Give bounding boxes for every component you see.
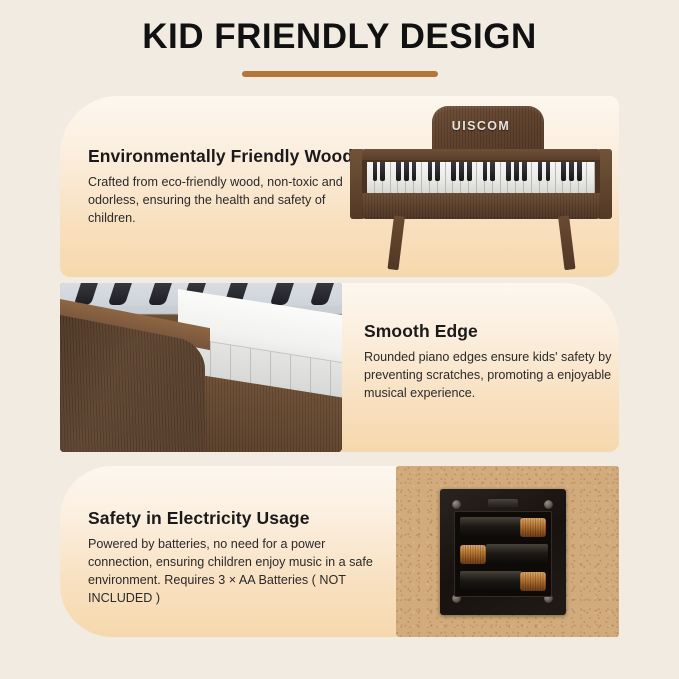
piano-black-key	[428, 162, 433, 181]
piano-rounded-edge-closeup	[60, 283, 342, 452]
battery-body	[460, 517, 522, 538]
closeup-black-key	[108, 283, 133, 305]
piano-black-key	[435, 162, 440, 181]
feature-heading: Smooth Edge	[364, 321, 612, 342]
feature-body: Rounded piano edges ensure kids' safety …	[364, 349, 612, 403]
battery-compartment-photo	[396, 466, 619, 637]
piano-black-key	[404, 162, 409, 181]
toy-piano-illustration: UISCOM	[350, 104, 612, 272]
closeup-black-key	[310, 283, 335, 305]
toy-piano-photo: UISCOM	[342, 96, 619, 277]
piano-leg-left	[387, 215, 404, 270]
feature-card-safety-in-electricity-usage: Safety in Electricity Usage Powered by b…	[60, 466, 396, 637]
piano-black-key	[373, 162, 378, 181]
piano-black-keys	[367, 162, 595, 181]
piano-black-key	[483, 162, 488, 181]
cork-backing-surface	[396, 466, 619, 637]
feature-card-environmentally-friendly-wood: Environmentally Friendly Wood Crafted fr…	[60, 96, 619, 277]
battery-body	[460, 571, 522, 592]
piano-black-key	[561, 162, 566, 181]
battery-terminal	[460, 545, 486, 564]
battery-door-plate	[440, 489, 566, 615]
aa-battery	[460, 571, 548, 592]
aa-battery	[460, 544, 548, 565]
piano-black-key	[514, 162, 519, 181]
piano-black-key	[467, 162, 472, 181]
feature-text-block: Smooth Edge Rounded piano edges ensure k…	[364, 321, 612, 403]
feature-body: Crafted from eco-friendly wood, non-toxi…	[88, 174, 356, 228]
screw-icon	[452, 500, 461, 509]
battery-terminal	[520, 518, 546, 537]
feature-text-block: Environmentally Friendly Wood Crafted fr…	[88, 146, 356, 228]
screw-icon	[544, 500, 553, 509]
closeup-black-key	[270, 283, 295, 305]
feature-body: Powered by batteries, no need for a powe…	[88, 536, 388, 608]
piano-black-key	[396, 162, 401, 181]
edge-closeup-illustration	[60, 283, 342, 452]
page-title: KID FRIENDLY DESIGN	[0, 18, 679, 57]
piano-black-key	[569, 162, 574, 181]
piano-black-key	[506, 162, 511, 181]
piano-black-key	[412, 162, 417, 181]
piano-black-key	[459, 162, 464, 181]
piano-black-key	[490, 162, 495, 181]
piano-black-key	[538, 162, 543, 181]
closeup-black-key	[148, 283, 173, 305]
feature-heading: Environmentally Friendly Wood	[88, 146, 356, 167]
aa-battery	[460, 517, 548, 538]
piano-black-key	[380, 162, 385, 181]
page-header: KID FRIENDLY DESIGN	[0, 0, 679, 77]
piano-black-key	[451, 162, 456, 181]
feature-heading: Safety in Electricity Usage	[88, 508, 388, 529]
piano-black-key	[577, 162, 582, 181]
piano-brand-label: UISCOM	[350, 119, 612, 133]
battery-body	[486, 544, 548, 565]
battery-bay	[454, 511, 552, 597]
piano-black-key	[522, 162, 527, 181]
piano-keybed	[362, 160, 600, 194]
feature-card-smooth-edge: Smooth Edge Rounded piano edges ensure k…	[342, 283, 619, 452]
piano-leg-right	[558, 215, 575, 270]
battery-door-latch	[488, 499, 518, 508]
piano-black-key	[546, 162, 551, 181]
feature-text-block: Safety in Electricity Usage Powered by b…	[88, 508, 388, 608]
battery-terminal	[520, 572, 546, 591]
title-divider	[242, 71, 438, 77]
